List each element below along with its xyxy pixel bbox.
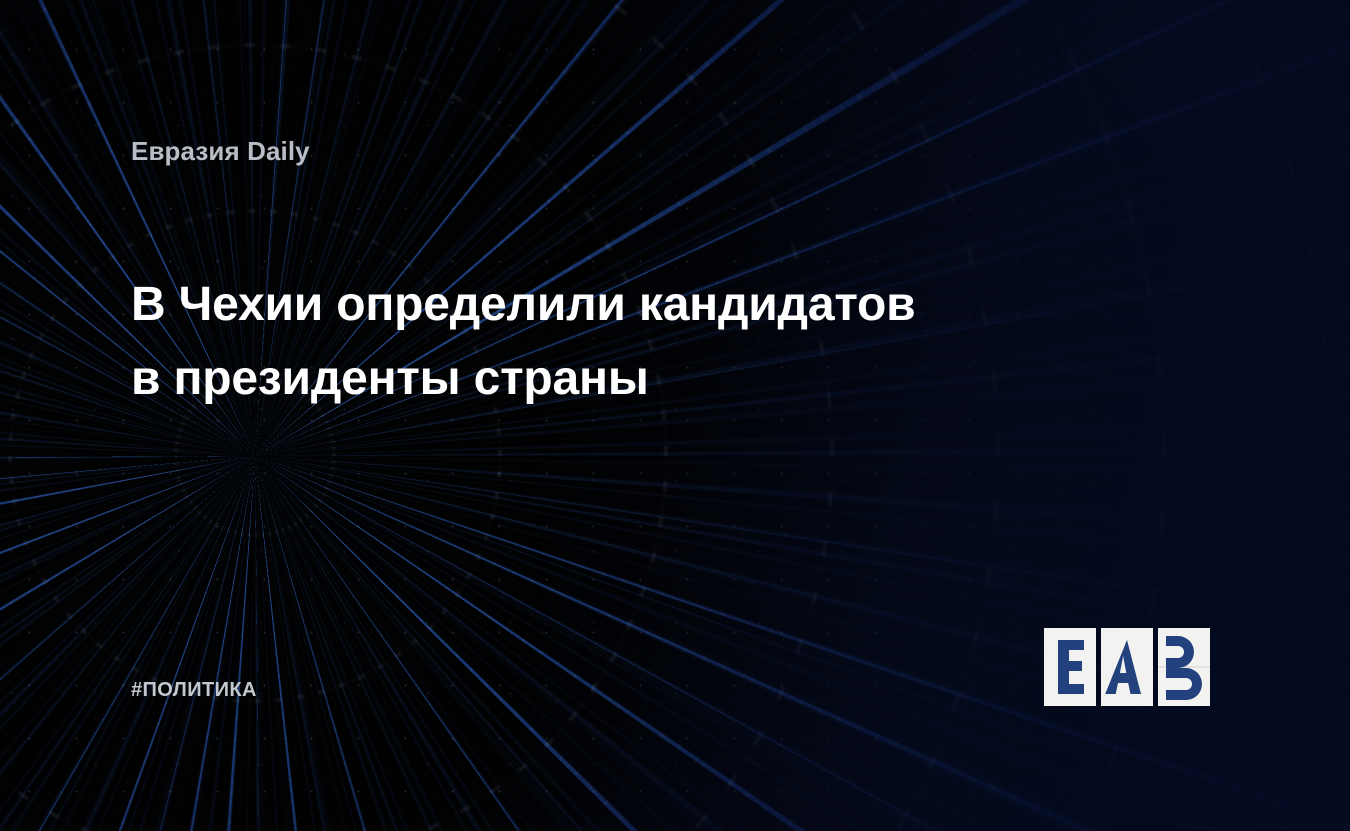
headline-line-2: в президенты страны	[131, 342, 1081, 416]
logo-letter-e	[1058, 640, 1084, 694]
headline-line-1: В Чехии определили кандидатов	[131, 268, 1081, 342]
social-share-card: Евразия Daily В Чехии определили кандида…	[0, 0, 1350, 831]
category-tag: #ПОЛИТИКА	[131, 679, 257, 702]
card-content: Евразия Daily В Чехии определили кандида…	[0, 0, 1350, 831]
brand-name: Евразия Daily	[131, 136, 310, 167]
page-title: В Чехии определили кандидатов в президен…	[131, 268, 1081, 416]
eadaily-logo	[1044, 628, 1224, 708]
eadaily-logo-mark	[1044, 628, 1224, 708]
